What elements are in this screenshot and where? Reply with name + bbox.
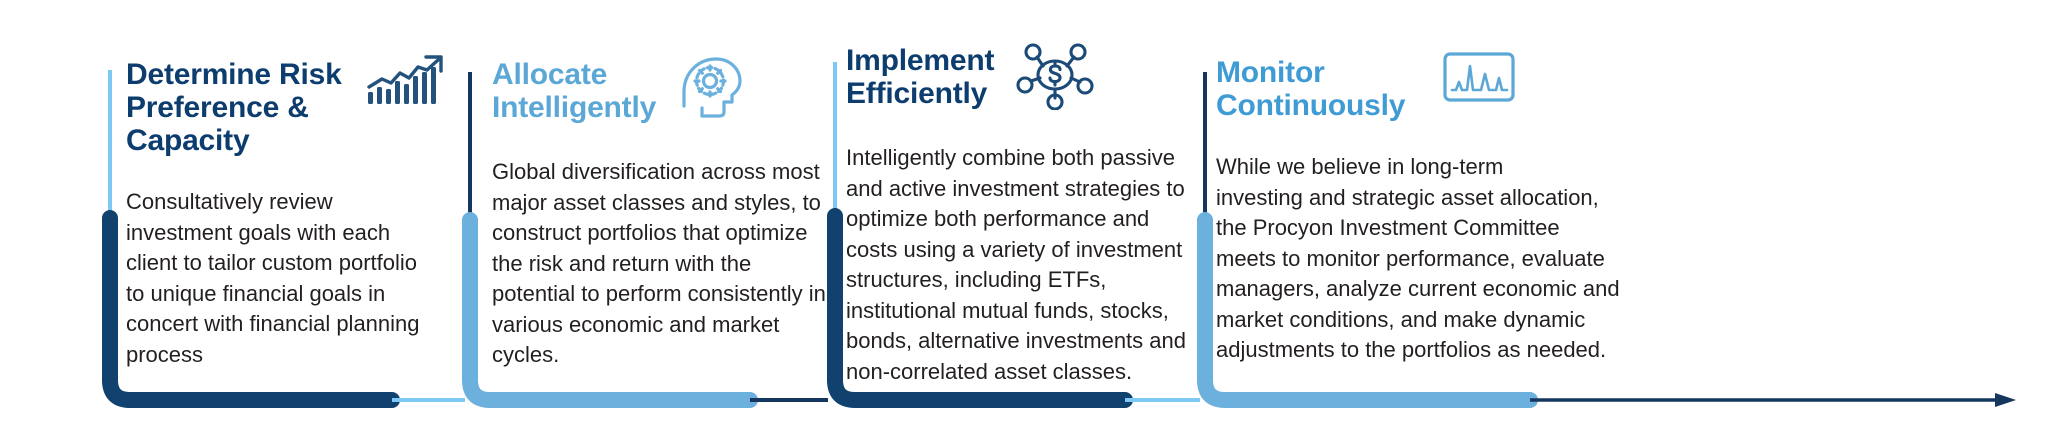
panel-monitor-continuously: Monitor Continuously While we believe in… bbox=[1150, 0, 2048, 437]
head-gear-icon bbox=[674, 54, 746, 125]
dollar-network-icon bbox=[1016, 40, 1094, 115]
panel-heading: Determine Risk Preference & Capacity bbox=[126, 58, 354, 157]
panel-content-3: Implement Efficiently bbox=[846, 44, 1196, 387]
monitor-chart-icon bbox=[1443, 52, 1515, 109]
panel-content-1: Determine Risk Preference & Capacity bbox=[126, 58, 446, 370]
rail-arrowhead-4 bbox=[1995, 393, 2016, 407]
panel-heading: Monitor Continuously bbox=[1216, 56, 1405, 122]
panel-body: While we believe in long-term investing … bbox=[1216, 152, 1646, 366]
panel-body: Consultatively review investment goals w… bbox=[126, 187, 446, 370]
heading-row-3: Implement Efficiently bbox=[846, 44, 1196, 115]
panel-determine-risk: Determine Risk Preference & Capacity bbox=[0, 0, 470, 437]
heading-row-1: Determine Risk Preference & Capacity bbox=[126, 58, 446, 157]
process-infographic: Determine Risk Preference & Capacity bbox=[0, 0, 2048, 437]
heading-row-4: Monitor Continuously bbox=[1216, 56, 1646, 122]
panel-heading: Allocate Intelligently bbox=[492, 58, 656, 124]
panel-heading: Implement Efficiently bbox=[846, 44, 994, 110]
panel-body: Intelligently combine both passive and a… bbox=[846, 143, 1196, 387]
panel-content-4: Monitor Continuously While we believe in… bbox=[1216, 56, 1646, 366]
